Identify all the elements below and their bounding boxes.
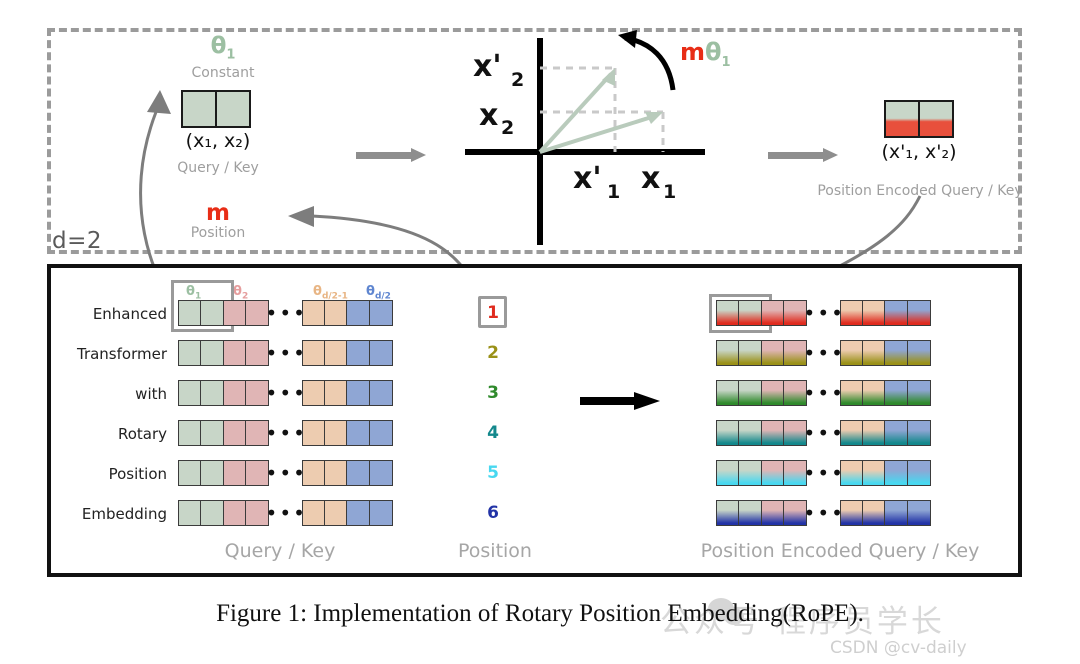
svg-text:x': x' — [473, 49, 502, 84]
query-key-row: ••• — [178, 340, 393, 366]
svg-text:1: 1 — [663, 181, 676, 203]
ellipsis-gap: ••• — [807, 500, 841, 526]
dimension-label: d=2 — [52, 228, 102, 254]
embedding-cell — [907, 340, 931, 366]
embedding-cell — [862, 500, 886, 526]
embedding-cell — [761, 460, 785, 486]
embedding-cell — [324, 380, 348, 406]
query-key-vector-label: (x₁, x₂) — [148, 130, 288, 152]
embedding-cell — [302, 420, 326, 446]
qk-cell-2 — [217, 92, 249, 126]
embedding-cell — [840, 340, 864, 366]
embedding-cell — [369, 340, 393, 366]
embedding-cell — [907, 460, 931, 486]
position-m-symbol: m — [148, 200, 288, 226]
embedding-cell — [884, 300, 908, 326]
query-key-section-caption: Query / Key — [160, 540, 400, 562]
ellipsis-gap: ••• — [807, 420, 841, 446]
sequence-word-label: Position — [62, 465, 167, 483]
embedding-cell — [716, 460, 740, 486]
embedding-cell — [369, 460, 393, 486]
position-index: 2 — [478, 343, 508, 363]
qk-cell-1 — [183, 92, 217, 126]
embedding-cell — [324, 460, 348, 486]
ellipsis-gap: ••• — [269, 300, 303, 326]
embedding-cell — [907, 500, 931, 526]
embedding-cell — [761, 340, 785, 366]
embedding-cell — [324, 300, 348, 326]
embedding-cell — [840, 460, 864, 486]
embedding-cell — [369, 420, 393, 446]
embedding-cell — [200, 300, 224, 326]
embedding-cell — [862, 380, 886, 406]
encoded-vector-label: (x'₁, x'₂) — [849, 141, 989, 163]
ellipsis-gap: ••• — [269, 340, 303, 366]
enc-cell-1 — [886, 102, 920, 136]
embedding-cell — [200, 500, 224, 526]
constant-label: Constant — [148, 65, 298, 81]
embedding-cell — [200, 420, 224, 446]
embedding-cell — [369, 380, 393, 406]
enc-cell-2 — [920, 102, 952, 136]
embedding-cell — [223, 340, 247, 366]
ellipsis-gap: ••• — [807, 340, 841, 366]
query-key-row: ••• — [178, 420, 393, 446]
encoded-section-caption: Position Encoded Query / Key — [665, 540, 1015, 562]
sequence-word-label: Embedding — [62, 505, 167, 523]
embedding-cell — [178, 500, 202, 526]
embedding-cell — [324, 340, 348, 366]
embedding-cell — [840, 380, 864, 406]
embedding-cell — [884, 420, 908, 446]
sequence-word-label: Enhanced — [62, 305, 167, 323]
query-key-vector-box — [181, 90, 251, 128]
embedding-cell — [738, 380, 762, 406]
embedding-cell — [302, 380, 326, 406]
embedding-cell — [324, 420, 348, 446]
embedding-cell — [346, 380, 370, 406]
transform-arrow-right — [768, 148, 840, 162]
embedding-cell — [840, 300, 864, 326]
embedding-cell — [716, 380, 740, 406]
embedding-cell — [178, 420, 202, 446]
embedding-cell — [302, 340, 326, 366]
ellipsis-gap: ••• — [269, 420, 303, 446]
figure-canvas: d=2 θ1 Constant (x₁, x₂) Query / Key m P… — [0, 0, 1080, 664]
embedding-cell — [738, 420, 762, 446]
embedding-cell — [223, 460, 247, 486]
svg-text:x: x — [479, 98, 498, 133]
embedding-cell — [346, 340, 370, 366]
position-encoded-row: ••• — [716, 380, 931, 406]
embedding-cell — [200, 340, 224, 366]
embedding-cell — [178, 460, 202, 486]
query-key-row: ••• — [178, 380, 393, 406]
position-index: 1 — [478, 303, 508, 323]
sequence-word-label: with — [62, 385, 167, 403]
embedding-cell — [178, 340, 202, 366]
embedding-cell — [840, 420, 864, 446]
position-encoded-row: ••• — [716, 300, 931, 326]
embedding-cell — [223, 380, 247, 406]
embedding-cell — [178, 300, 202, 326]
theta-constant-symbol: θ1 — [148, 33, 298, 63]
embedding-cell — [761, 380, 785, 406]
query-key-row: ••• — [178, 460, 393, 486]
encoded-caption: Position Encoded Query / Key — [800, 183, 1040, 199]
embedding-cell — [907, 300, 931, 326]
embedding-cell — [884, 380, 908, 406]
embedding-cell — [346, 300, 370, 326]
embedding-cell — [716, 340, 740, 366]
embedding-cell — [223, 300, 247, 326]
embedding-cell — [346, 420, 370, 446]
embedding-cell — [369, 500, 393, 526]
watermark-csdn: CSDN @cv-daily — [830, 638, 967, 658]
position-index: 6 — [478, 503, 508, 523]
embedding-cell — [884, 500, 908, 526]
m-theta-rotation-label: mθ1 — [680, 38, 731, 70]
query-key-row: ••• — [178, 500, 393, 526]
ellipsis-gap: ••• — [807, 380, 841, 406]
position-index: 3 — [478, 383, 508, 403]
query-key-caption: Query / Key — [148, 160, 288, 176]
position-encoded-row: ••• — [716, 500, 931, 526]
svg-text:2: 2 — [511, 69, 524, 91]
embedding-cell — [738, 500, 762, 526]
ellipsis-gap: ••• — [807, 460, 841, 486]
embedding-cell — [907, 380, 931, 406]
embedding-cell — [346, 460, 370, 486]
svg-text:x: x — [641, 161, 660, 196]
embedding-cell — [761, 300, 785, 326]
position-index: 4 — [478, 423, 508, 443]
theta-header-2: θ2 — [233, 284, 248, 302]
position-encoded-row: ••• — [716, 340, 931, 366]
ellipsis-gap: ••• — [269, 460, 303, 486]
embedding-cell — [862, 460, 886, 486]
embedding-cell — [738, 300, 762, 326]
embedding-cell — [716, 420, 740, 446]
transform-arrow-left — [356, 148, 428, 162]
embedding-cell — [716, 500, 740, 526]
sequence-word-label: Transformer — [62, 345, 167, 363]
embedding-cell — [738, 460, 762, 486]
svg-text:2: 2 — [501, 117, 514, 139]
embedding-cell — [346, 500, 370, 526]
embedding-cell — [738, 340, 762, 366]
embedding-cell — [223, 500, 247, 526]
ellipsis-gap: ••• — [269, 500, 303, 526]
ellipsis-gap: ••• — [807, 300, 841, 326]
position-index: 5 — [478, 463, 508, 483]
svg-text:x': x' — [573, 161, 602, 196]
query-key-row: ••• — [178, 300, 393, 326]
embedding-cell — [223, 420, 247, 446]
theta-header-4: θd/2 — [366, 284, 391, 302]
embedding-cell — [907, 420, 931, 446]
embedding-cell — [302, 300, 326, 326]
embedding-cell — [862, 340, 886, 366]
theta-header-3: θd/2-1 — [313, 284, 348, 302]
position-m-label: Position — [148, 225, 288, 241]
embedding-cell — [302, 500, 326, 526]
apply-rope-arrow — [580, 392, 660, 410]
embedding-cell — [761, 420, 785, 446]
embedding-cell — [324, 500, 348, 526]
sequence-word-label: Rotary — [62, 425, 167, 443]
embedding-cell — [761, 500, 785, 526]
ellipsis-gap: ••• — [269, 380, 303, 406]
position-section-caption: Position — [430, 540, 560, 562]
embedding-cell — [716, 300, 740, 326]
embedding-cell — [884, 460, 908, 486]
position-encoded-row: ••• — [716, 460, 931, 486]
embedding-cell — [302, 460, 326, 486]
embedding-cell — [369, 300, 393, 326]
embedding-cell — [862, 300, 886, 326]
svg-text:1: 1 — [607, 181, 620, 203]
embedding-cell — [200, 380, 224, 406]
embedding-cell — [884, 340, 908, 366]
embedding-cell — [200, 460, 224, 486]
embedding-cell — [178, 380, 202, 406]
position-encoded-row: ••• — [716, 420, 931, 446]
embedding-cell — [840, 500, 864, 526]
embedding-cell — [862, 420, 886, 446]
figure-caption: Figure 1: Implementation of Rotary Posit… — [0, 600, 1080, 628]
encoded-vector-box — [884, 100, 954, 138]
